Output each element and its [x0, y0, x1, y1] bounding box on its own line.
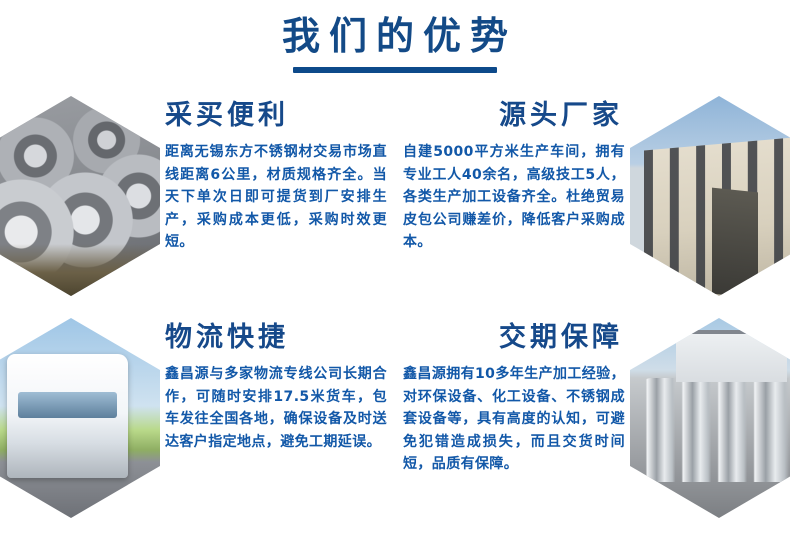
- advantages-page: 我们的优势 采买便利 距离无锡东方不锈钢材交易市场直线距离6公里，材质规格齐全。…: [0, 0, 790, 548]
- advantage-card-body: 鑫昌源拥有10多年生产加工经验，对环保设备、化工设备、不锈钢成套设备等，具有高度…: [403, 363, 625, 476]
- advantage-card-text-block: 源头厂家 自建5000平方米生产车间，拥有专业工人40余名，高级技工5人，各类生…: [403, 100, 625, 254]
- steel-coils-image-fill: [0, 96, 160, 296]
- advantage-card-body: 鑫昌源与多家物流专线公司长期合作，可随时安排17.5米货车，包车发往全国各地，确…: [165, 363, 387, 453]
- factory-building-image-fill: [630, 96, 790, 296]
- stainless-steel-tanks-image-fill: [630, 318, 790, 518]
- advantage-card-purchasing-convenience: 采买便利 距离无锡东方不锈钢材交易市场直线距离6公里，材质规格齐全。当天下单次日…: [0, 92, 395, 307]
- advantage-card-text-block: 物流快捷 鑫昌源与多家物流专线公司长期合作，可随时安排17.5米货车，包车发往全…: [165, 322, 387, 453]
- delivery-truck-photo: [0, 318, 160, 518]
- steel-coils-photo: [0, 96, 160, 296]
- advantage-card-grid: 采买便利 距离无锡东方不锈钢材交易市场直线距离6公里，材质规格齐全。当天下单次日…: [0, 92, 790, 542]
- advantage-card-text-block: 交期保障 鑫昌源拥有10多年生产加工经验，对环保设备、化工设备、不锈钢成套设备等…: [403, 322, 625, 476]
- delivery-truck-image-fill: [0, 318, 160, 518]
- page-header: 我们的优势: [0, 14, 790, 73]
- advantage-card-title: 交期保障: [403, 322, 625, 354]
- advantage-card-body: 自建5000平方米生产车间，拥有专业工人40余名，高级技工5人，各类生产加工设备…: [403, 141, 625, 254]
- advantage-card-title: 源头厂家: [403, 100, 625, 132]
- factory-building-photo: [630, 96, 790, 296]
- advantage-card-fast-logistics: 物流快捷 鑫昌源与多家物流专线公司长期合作，可随时安排17.5米货车，包车发往全…: [0, 314, 395, 529]
- stainless-steel-tanks-photo: [630, 318, 790, 518]
- advantage-card-title: 物流快捷: [165, 322, 387, 354]
- advantage-card-source-manufacturer: 源头厂家 自建5000平方米生产车间，拥有专业工人40余名，高级技工5人，各类生…: [395, 92, 790, 307]
- advantage-card-delivery-guarantee: 交期保障 鑫昌源拥有10多年生产加工经验，对环保设备、化工设备、不锈钢成套设备等…: [395, 314, 790, 529]
- advantage-card-title: 采买便利: [165, 100, 387, 132]
- title-underline-rule: [293, 67, 497, 73]
- advantage-card-body: 距离无锡东方不锈钢材交易市场直线距离6公里，材质规格齐全。当天下单次日即可提货到…: [165, 141, 387, 254]
- advantage-card-text-block: 采买便利 距离无锡东方不锈钢材交易市场直线距离6公里，材质规格齐全。当天下单次日…: [165, 100, 387, 254]
- page-title: 我们的优势: [0, 14, 790, 58]
